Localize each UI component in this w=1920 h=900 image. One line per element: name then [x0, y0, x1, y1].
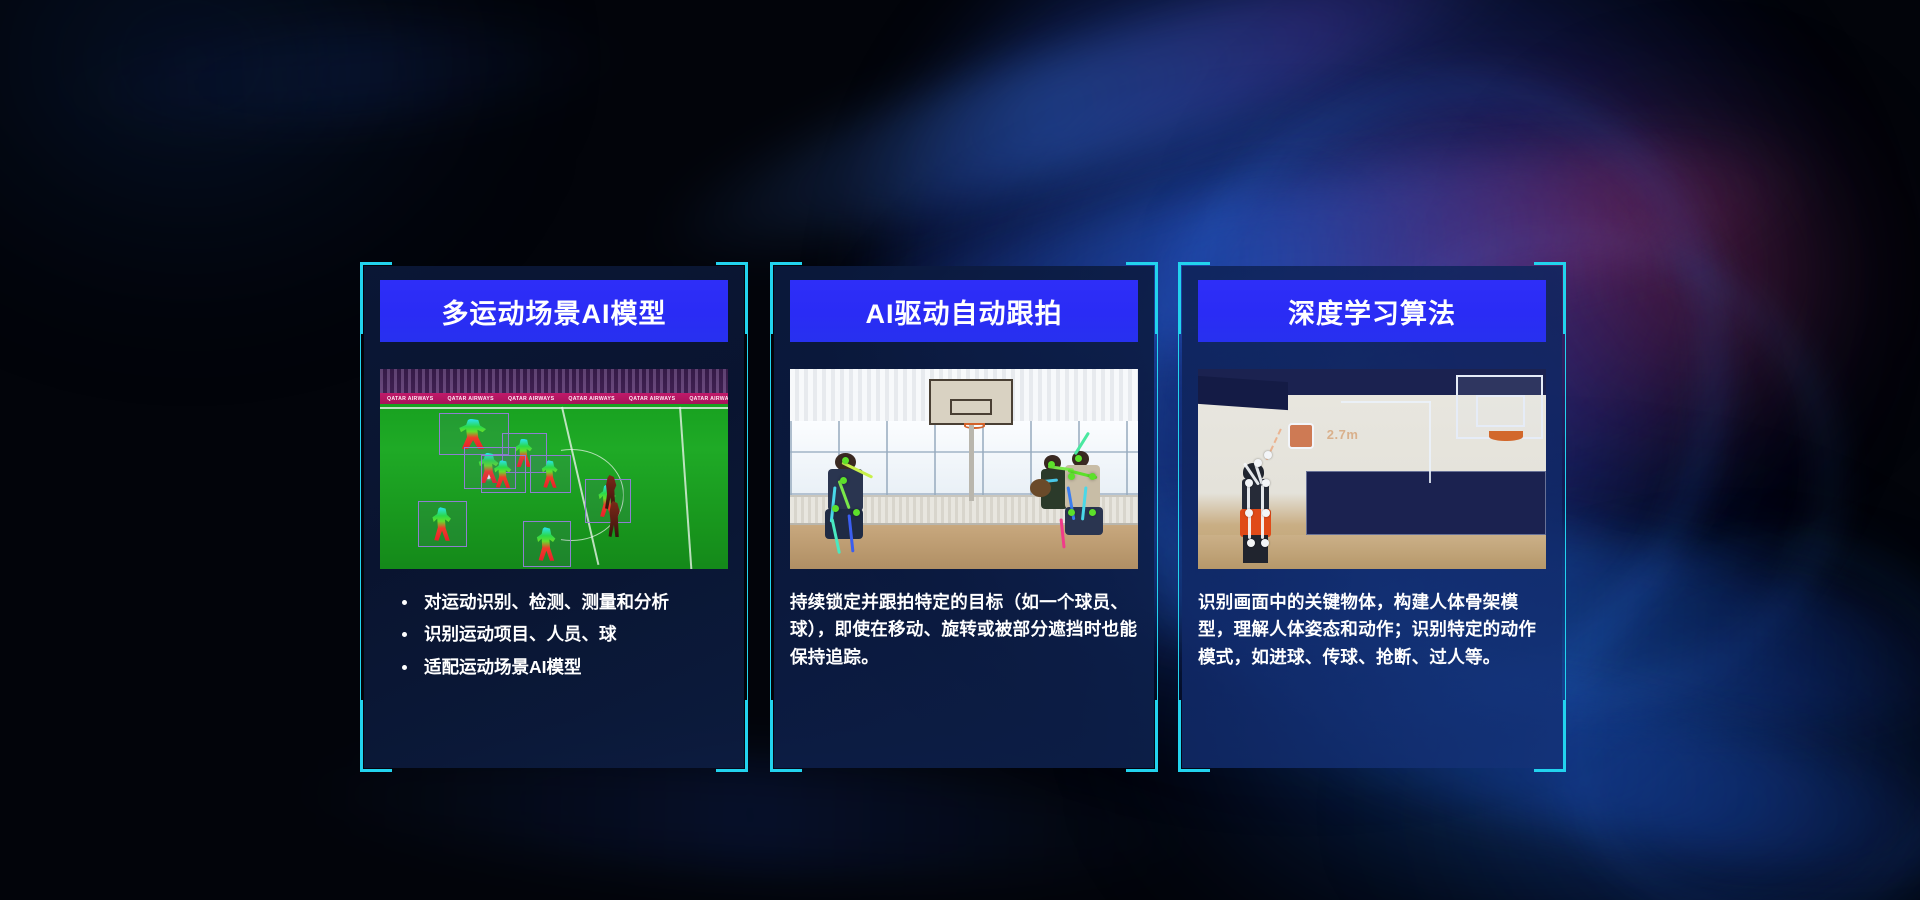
- hoop: [964, 423, 985, 429]
- feature-card-deep-learning-algorithm[interactable]: 深度学习算法 2.7m: [1178, 262, 1566, 772]
- feature-bullet-list: 对运动识别、检测、测量和分析 识别运动项目、人员、球 适配运动场景AI模型: [380, 589, 728, 681]
- card-title: AI驱动自动跟拍: [790, 280, 1138, 342]
- soccer-pitch-detection-image: QATAR AIRWAYSQATAR AIRWAYSQATAR AIRWAYS …: [380, 369, 728, 569]
- card-body-bullets: 对运动识别、检测、测量和分析 识别运动项目、人员、球 适配运动场景AI模型: [380, 589, 728, 768]
- shot-arc-measurement-image: 2.7m: [1198, 369, 1546, 569]
- detection-box: [481, 455, 526, 493]
- hoop: [1489, 431, 1524, 441]
- card-title: 多运动场景AI模型: [380, 280, 728, 342]
- detection-box: [530, 455, 572, 493]
- detection-box: [418, 501, 467, 547]
- list-item: 适配运动场景AI模型: [402, 654, 728, 681]
- feature-card-ai-auto-tracking-shot[interactable]: AI驱动自动跟拍: [770, 262, 1158, 772]
- card-inner: 深度学习算法 2.7m: [1182, 266, 1562, 768]
- ball-tracking-box: [1288, 423, 1314, 449]
- list-item: 对运动识别、检测、测量和分析: [402, 589, 728, 616]
- detection-box: [523, 521, 572, 567]
- card-inner: AI驱动自动跟拍: [774, 266, 1154, 768]
- measurement-label: 2.7m: [1327, 427, 1359, 442]
- stadium-banner: QATAR AIRWAYSQATAR AIRWAYSQATAR AIRWAYS …: [380, 393, 728, 404]
- card-inner: 多运动场景AI模型 QATAR AIRWAYSQATAR AIRWAYSQATA…: [364, 266, 744, 768]
- card-title: 深度学习算法: [1198, 280, 1546, 342]
- gym-basketball-pose-skeleton-image: [790, 369, 1138, 569]
- basketball: [1030, 479, 1051, 497]
- feature-card-multi-sport-ai-model[interactable]: 多运动场景AI模型 QATAR AIRWAYSQATAR AIRWAYSQATA…: [360, 262, 748, 772]
- feature-card-row: 多运动场景AI模型 QATAR AIRWAYSQATAR AIRWAYSQATA…: [0, 0, 1920, 900]
- card-body-paragraph: 持续锁定并跟拍特定的目标（如一个球员、球），即使在移动、旋转或被部分遮挡时也能保…: [790, 589, 1138, 768]
- card-body-paragraph: 识别画面中的关键物体，构建人体骨架模型，理解人体姿态和动作；识别特定的动作模式，…: [1198, 589, 1546, 768]
- list-item: 识别运动项目、人员、球: [402, 621, 728, 648]
